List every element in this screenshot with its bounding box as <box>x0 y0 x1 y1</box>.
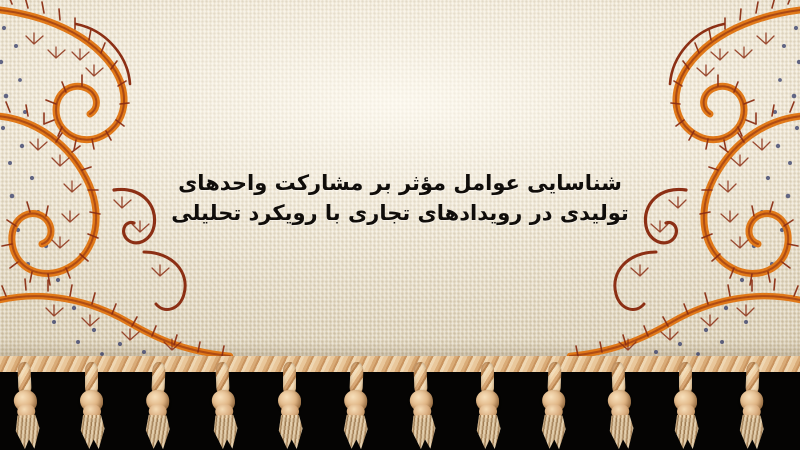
tassel <box>202 359 245 450</box>
tassel <box>666 360 706 450</box>
tassel-skirt <box>672 415 700 449</box>
tassel <box>136 359 179 450</box>
tassel <box>270 360 310 450</box>
tassel-skirt <box>408 414 437 449</box>
tassel-skirt <box>12 414 41 449</box>
title-card-image: شناسایی عوامل مؤثر بر مشارکت واحدهای تول… <box>0 0 800 450</box>
tassel-skirt <box>276 415 304 449</box>
tassel-skirt <box>606 414 635 449</box>
tassel-skirt <box>142 414 171 449</box>
tassel-skirt <box>538 414 567 449</box>
tassel-fringe <box>0 360 800 450</box>
tassel-skirt <box>736 414 765 449</box>
tassel <box>598 359 641 450</box>
tassel <box>4 359 47 450</box>
tassel-skirt <box>340 414 369 449</box>
page-title: شناسایی عوامل مؤثر بر مشارکت واحدهای تول… <box>0 168 800 228</box>
tassel-skirt <box>78 415 106 449</box>
tassel <box>730 359 773 450</box>
title-line-1: شناسایی عوامل مؤثر بر مشارکت واحدهای <box>0 168 800 198</box>
tassel <box>532 359 575 450</box>
tassel <box>400 359 443 450</box>
tassel <box>72 360 112 450</box>
tassel-skirt <box>210 414 239 449</box>
title-line-2: تولیدی در رویدادهای تجاری با رویکرد تحلی… <box>0 198 800 228</box>
tassel <box>334 359 377 450</box>
tassel <box>468 360 508 450</box>
tassel-skirt <box>474 415 502 449</box>
